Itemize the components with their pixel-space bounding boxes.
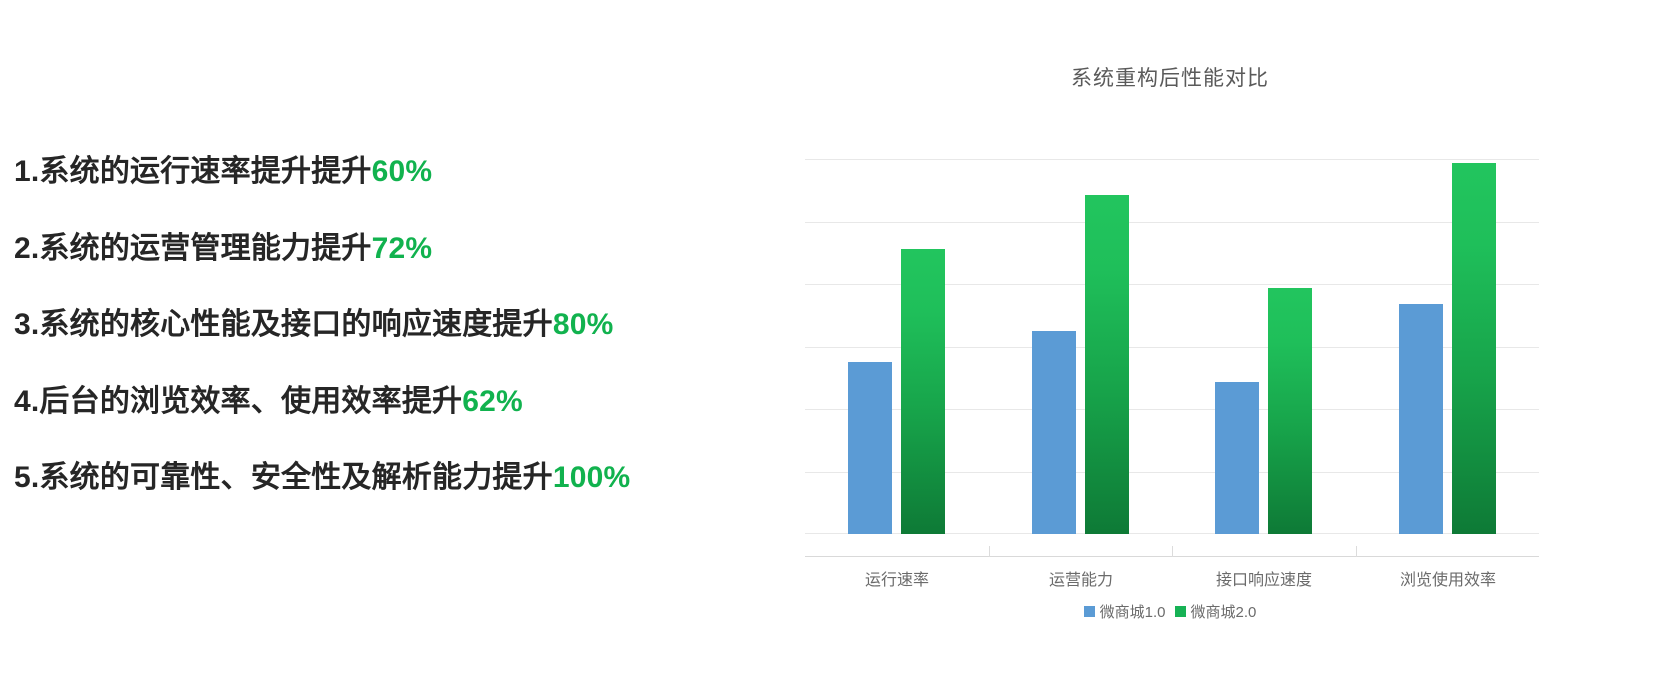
slide-canvas: 1.系统的运行速率提升提升60% 2.系统的运营管理能力提升72% 3.系统的核… [0, 0, 1658, 697]
bar-series2-0[interactable] [901, 249, 945, 534]
bullet-percent: 60% [372, 155, 433, 188]
list-item: 3.系统的核心性能及接口的响应速度提升80% [14, 308, 774, 343]
bullet-percent: 62% [462, 385, 523, 418]
bar-series1-3[interactable] [1399, 304, 1443, 534]
bar-series1-1[interactable] [1032, 331, 1076, 534]
legend-label: 微商城1.0 [1100, 601, 1166, 622]
x-axis-tick [1356, 546, 1357, 557]
chart-legend: 微商城1.0 微商城2.0 [796, 601, 1544, 622]
bullet-percent: 80% [553, 308, 614, 341]
list-item: 1.系统的运行速率提升提升60% [14, 155, 774, 190]
bar-series2-1[interactable] [1085, 195, 1129, 534]
legend-swatch-icon [1084, 606, 1095, 617]
bar-series2-2[interactable] [1268, 288, 1312, 534]
chart-title: 系统重构后性能对比 [796, 62, 1544, 92]
x-axis-label-1: 运营能力 [989, 566, 1173, 590]
bar-series2-3[interactable] [1452, 163, 1496, 534]
bullet-text: 系统的核心性能及接口的响应速度提升 [39, 308, 552, 341]
x-axis-label-3: 浏览使用效率 [1356, 566, 1540, 590]
x-axis-label-0: 运行速率 [805, 566, 989, 590]
gridline [805, 222, 1539, 223]
bullet-number: 1. [14, 155, 39, 188]
list-item: 5.系统的可靠性、安全性及解析能力提升100% [14, 461, 774, 496]
bullet-number: 3. [14, 308, 39, 341]
plot-area: 运行速率运营能力接口响应速度浏览使用效率 [805, 97, 1539, 534]
bullet-list: 1.系统的运行速率提升提升60% 2.系统的运营管理能力提升72% 3.系统的核… [14, 155, 774, 496]
legend-item-series2[interactable]: 微商城2.0 [1175, 601, 1257, 622]
gridline [805, 159, 1539, 160]
x-axis-label-2: 接口响应速度 [1172, 566, 1356, 590]
bar-series1-0[interactable] [848, 362, 892, 534]
bullet-number: 2. [14, 232, 39, 265]
bullet-number: 5. [14, 461, 39, 494]
list-item: 2.系统的运营管理能力提升72% [14, 232, 774, 267]
bar-series1-2[interactable] [1215, 382, 1259, 534]
x-axis-tick [989, 546, 990, 557]
bullet-percent: 100% [553, 461, 631, 494]
bullet-number: 4. [14, 385, 39, 418]
bullet-text: 系统的可靠性、安全性及解析能力提升 [39, 461, 552, 494]
bullet-percent: 72% [372, 232, 433, 265]
legend-swatch-icon [1175, 606, 1186, 617]
legend-item-series1[interactable]: 微商城1.0 [1084, 601, 1166, 622]
bullet-text: 后台的浏览效率、使用效率提升 [39, 385, 462, 418]
x-axis-tick [1172, 546, 1173, 557]
list-item: 4.后台的浏览效率、使用效率提升62% [14, 385, 774, 420]
bullet-text: 系统的运行速率提升提升 [39, 155, 371, 188]
bar-chart: 系统重构后性能对比 运行速率运营能力接口响应速度浏览使用效率 微商城1.0 微商… [796, 26, 1544, 654]
bullet-text: 系统的运营管理能力提升 [39, 232, 371, 265]
legend-label: 微商城2.0 [1191, 601, 1257, 622]
